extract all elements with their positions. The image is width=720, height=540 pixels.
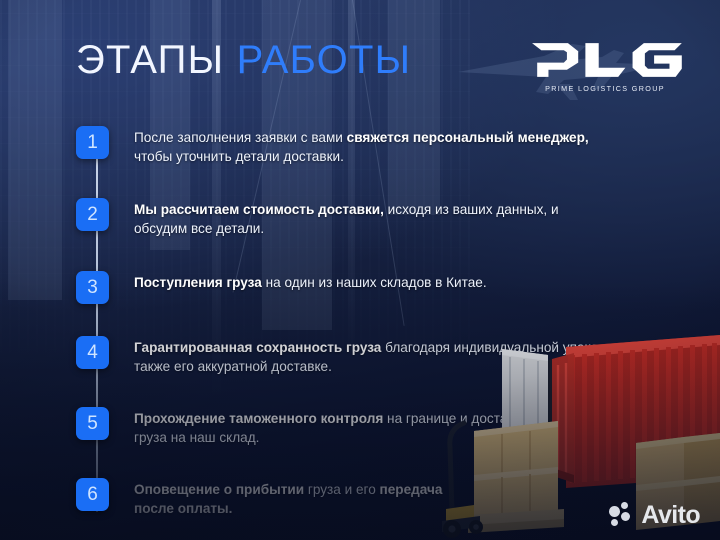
avito-wordmark: Avito [641,503,700,528]
step-number-badge: 1 [76,126,109,159]
avito-dots-icon [609,502,635,528]
step-number-badge: 6 [76,478,109,511]
avito-watermark: Avito [609,502,700,528]
step-number-badge: 2 [76,198,109,231]
step-number-badge: 4 [76,336,109,369]
banner-stage: ЭТАПЫ РАБОТЫ PRIME LOGISTICS GROUP 1 Пос… [0,0,720,540]
step-number-badge: 5 [76,407,109,440]
background-vignette [0,0,720,540]
step-number-badge: 3 [76,271,109,304]
